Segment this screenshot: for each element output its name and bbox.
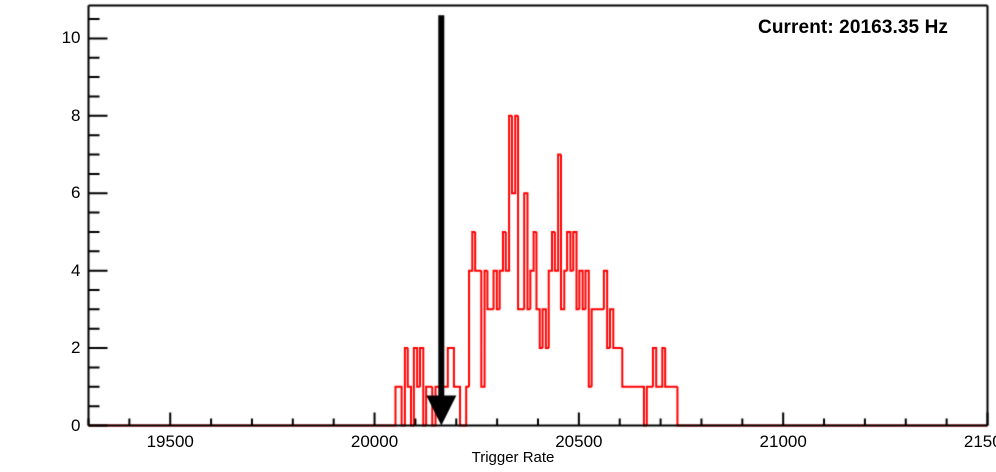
x-axis-tick-label: 21500 (964, 432, 996, 452)
x-axis-tick-label: 20000 (351, 432, 398, 452)
x-axis-tick-label: 21000 (760, 432, 807, 452)
current-rate-annotation: Current: 20163.35 Hz (758, 17, 948, 39)
y-axis-tick-label: 6 (25, 183, 81, 203)
y-axis-tick-label: 2 (25, 338, 81, 358)
trigger-rate-histogram-figure: Current: 20163.35 Hz 0246810 19500200002… (0, 0, 996, 472)
y-axis-tick-label: 4 (25, 261, 81, 281)
x-axis-tick-label: 19500 (147, 432, 194, 452)
x-axis-tick-label: 20500 (555, 432, 602, 452)
y-axis-tick-label: 10 (25, 28, 81, 48)
x-axis-title: Trigger Rate (472, 449, 555, 466)
y-axis-tick-label: 0 (25, 416, 81, 436)
histogram-plot-canvas[interactable] (0, 0, 996, 472)
y-axis-tick-label: 8 (25, 106, 81, 126)
